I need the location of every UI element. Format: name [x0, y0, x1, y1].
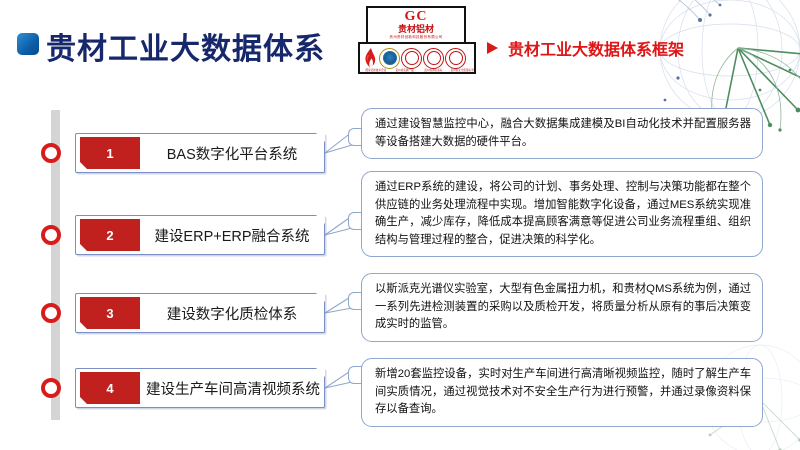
title-bullet-icon [17, 33, 39, 55]
seal-glyph: A [402, 54, 421, 63]
company-logo: GC 贵材铝材 贵州贵材创新科技股份有限公司 A 贵 质 国家高新技术企业 贵州… [358, 6, 476, 74]
item-description-1: 通过建设智慧监控中心，融合大数据集成建模及BI自动化技术并配置服务器等设备搭建大… [361, 108, 763, 159]
cert-caption-4: 贵州省安全质量标准 [448, 68, 476, 72]
section-heading-text: 贵材工业大数据体系框架 [508, 36, 684, 60]
certification-seal-4: 质 [445, 48, 466, 69]
certification-captions: 国家高新技术企业 贵州省名牌产品 贵州省著名商标 贵州省安全质量标准 [362, 68, 476, 72]
seal-glyph: 贵 [424, 54, 443, 63]
item-description-4: 新增20套监控设备，实时对生产车间进行高清晰视频监控，随时了解生产车间实质情况，… [361, 358, 763, 427]
item-number-badge-3: 3 [80, 297, 140, 329]
cert-caption-2: 贵州省名牌产品 [391, 68, 419, 72]
item-description-3: 以斯派克光谱仪实验室，大型有色金属扭力机，和贵材QMS系统为例，通过一系列先进检… [361, 273, 763, 342]
item-label-box-3[interactable]: 3 建设数字化质检体系 [75, 293, 325, 333]
item-label-text-4: 建设生产车间高清视频系统 [140, 378, 326, 399]
item-description-2: 通过ERP系统的建设，将公司的计划、事务处理、控制与决策功能都在整个供应链的业务… [361, 171, 763, 257]
item-label-box-2[interactable]: 2 建设ERP+ERP融合系统 [75, 215, 325, 255]
certification-seal-3: 贵 [423, 48, 444, 69]
timeline-marker-2 [41, 225, 61, 245]
logo-mark-text: GC [405, 10, 428, 24]
item-label-text-1: BAS数字化平台系统 [140, 143, 324, 164]
page-title: 贵材工业大数据体系 [46, 24, 325, 68]
item-label-box-4[interactable]: 4 建设生产车间高清视频系统 [75, 368, 325, 408]
logo-company-subtitle: 贵州贵材创新科技股份有限公司 [389, 36, 442, 40]
certification-seal-1 [379, 48, 400, 69]
section-heading: 贵材工业大数据体系框架 [487, 36, 684, 60]
seal-glyph: 质 [446, 54, 465, 63]
flame-emblem-icon [362, 47, 378, 69]
item-number-badge-1: 1 [80, 137, 140, 169]
cert-caption-1: 国家高新技术企业 [362, 68, 390, 72]
item-number-badge-2: 2 [80, 219, 140, 251]
item-number-badge-4: 4 [80, 372, 140, 404]
timeline-marker-4 [41, 378, 61, 398]
timeline-marker-1 [41, 143, 61, 163]
certification-seal-2: A [401, 48, 422, 69]
item-label-text-3: 建设数字化质检体系 [140, 303, 324, 324]
slide-canvas: 贵材工业大数据体系 GC 贵材铝材 贵州贵材创新科技股份有限公司 A 贵 质 国… [0, 0, 800, 450]
logo-company-name: 贵材铝材 [398, 25, 434, 35]
item-label-text-2: 建设ERP+ERP融合系统 [140, 225, 324, 246]
certification-seal-strip: A 贵 质 国家高新技术企业 贵州省名牌产品 贵州省著名商标 贵州省安全质量标准 [358, 42, 476, 74]
cert-caption-3: 贵州省著名商标 [420, 68, 448, 72]
logo-mark-box: GC 贵材铝材 贵州贵材创新科技股份有限公司 [366, 6, 466, 44]
item-label-box-1[interactable]: 1 BAS数字化平台系统 [75, 133, 325, 173]
triangle-arrow-bullet-icon [487, 42, 498, 54]
timeline-marker-3 [41, 303, 61, 323]
